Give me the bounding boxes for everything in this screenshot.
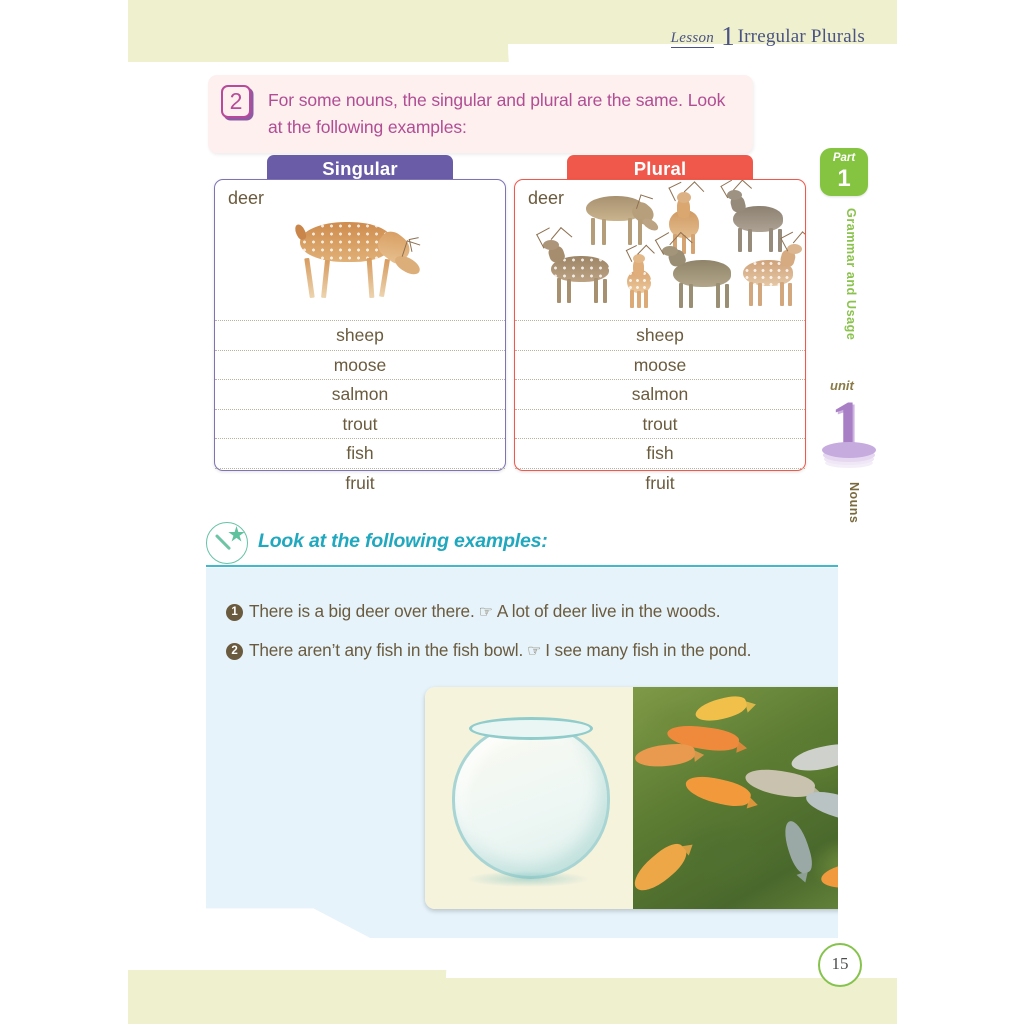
bowl-rim-shape [469, 717, 593, 740]
koi-fish [693, 693, 748, 725]
examples-heading-text: Look at the following examples: [258, 530, 548, 553]
koi-fish [634, 742, 696, 769]
table-row: sheep [215, 321, 505, 351]
koi-fish [780, 818, 816, 876]
example-photo-pair [425, 687, 880, 909]
singular-table-body: deer [214, 179, 506, 471]
star-icon [228, 526, 245, 543]
example-sentence-2: 2There aren’t any fish in the fish bowl.… [226, 640, 826, 662]
table-row: sheep [515, 321, 805, 351]
example-1-second-clause: A lot of deer live in the woods. [497, 601, 721, 621]
lesson-word: Lesson [671, 30, 714, 48]
table-row: fruit [215, 469, 505, 499]
example-sentence-1: 1There is a big deer over there.☞A lot o… [226, 601, 826, 623]
wand-stick-shape [215, 534, 231, 550]
example-2-second-clause: I see many fish in the pond. [545, 640, 751, 660]
multiple-deer-photo: deer [515, 180, 805, 321]
single-deer-photo: deer [215, 180, 505, 321]
example-number-2: 2 [226, 643, 243, 660]
table-row: moose [515, 351, 805, 381]
part-label: Part [820, 148, 868, 166]
pointing-hand-icon: ☞ [479, 602, 493, 622]
bowl-shadow-shape [467, 871, 589, 887]
table-row: fruit [515, 469, 805, 499]
examples-panel: 1There is a big deer over there.☞A lot o… [206, 568, 838, 938]
deer-illustration [661, 244, 747, 308]
lesson-header: Lesson1Irregular Plurals [671, 18, 865, 49]
lesson-title: Irregular Plurals [738, 26, 865, 47]
step-number-badge: 2 [221, 85, 251, 118]
part-tab-badge: Part 1 [820, 148, 868, 196]
instruction-callout: 2 For some nouns, the singular and plura… [208, 75, 753, 153]
table-row: fish [215, 439, 505, 469]
table-row: trout [515, 410, 805, 440]
lesson-number: 1 [721, 21, 735, 51]
instruction-text: For some nouns, the singular and plural … [268, 87, 737, 140]
unit-disc-decoration [822, 442, 876, 458]
table-row: salmon [515, 380, 805, 410]
table-row: moose [215, 351, 505, 381]
example-number-1: 1 [226, 604, 243, 621]
bowl-glass-shape [452, 723, 610, 879]
plural-image-label: deer [528, 188, 564, 209]
table-row: salmon [215, 380, 505, 410]
deer-illustration [737, 244, 805, 306]
deer-illustration [541, 242, 625, 304]
part-number: 1 [820, 166, 868, 192]
page-number: 15 [818, 943, 862, 987]
example-1-first-clause: There is a big deer over there. [249, 601, 475, 621]
deer-illustration [578, 190, 658, 248]
unit-vertical-label: Nouns [835, 482, 861, 542]
part-vertical-label: Grammar and Usage [828, 208, 858, 368]
magic-wand-icon [206, 522, 248, 564]
examples-heading: Look at the following examples: [206, 522, 826, 564]
table-row: trout [215, 410, 505, 440]
example-2-first-clause: There aren’t any fish in the fish bowl. [249, 640, 523, 660]
empty-fish-bowl-photo [425, 687, 633, 909]
table-row: fish [515, 439, 805, 469]
textbook-page: Lesson1Irregular Plurals 2 For some noun… [128, 0, 897, 1024]
deer-illustration [619, 250, 665, 308]
plural-table-body: deer [514, 179, 806, 471]
koi-fish [683, 771, 753, 810]
examples-heading-rule [206, 565, 838, 567]
singular-image-label: deer [228, 188, 264, 209]
koi-fish [633, 838, 692, 898]
deer-illustration [290, 214, 425, 300]
pointing-hand-icon: ☞ [527, 641, 541, 661]
